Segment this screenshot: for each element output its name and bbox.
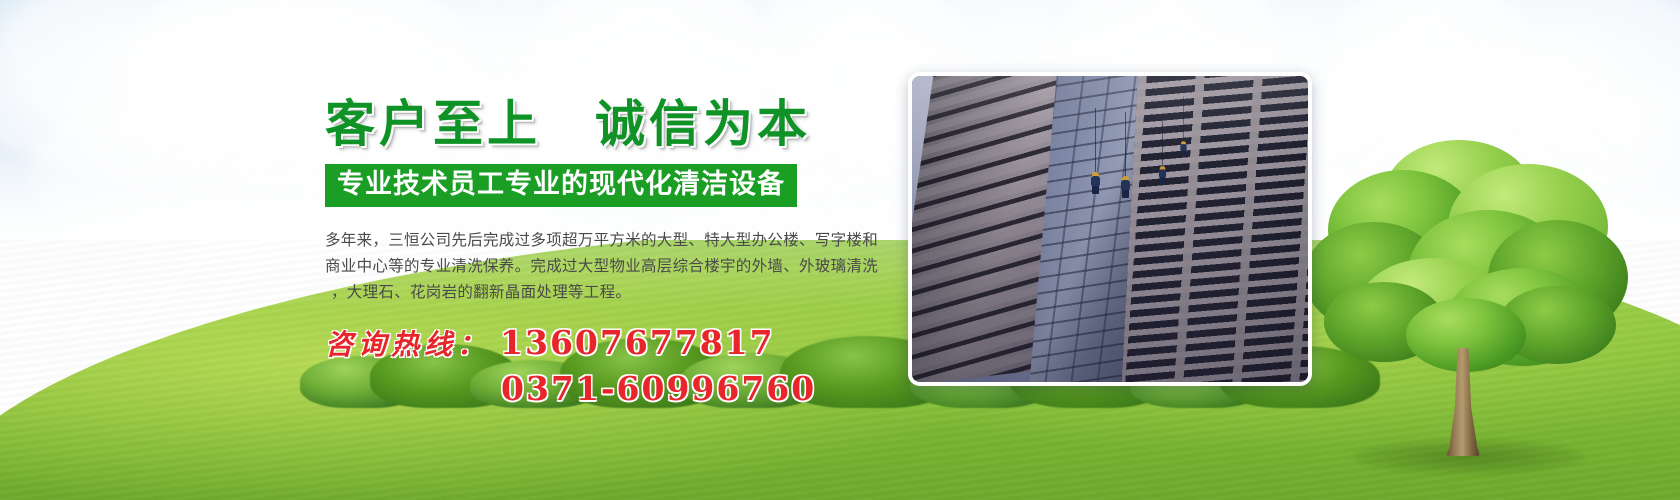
building-photo: [912, 76, 1308, 382]
banner-copy: 客户至上 诚信为本 专业技术员工专业的现代化清洁设备 多年来，三恒公司先后完成过…: [325, 96, 905, 408]
tree-canopy: [1298, 140, 1628, 380]
description-line-2: 商业中心等的专业清洗保养。完成过大型物业高层综合楼宇的外墙、外玻璃清洗: [325, 253, 885, 279]
hotline-phone-primary[interactable]: 13607677817: [500, 323, 775, 362]
description-line-3: ，大理石、花岗岩的翻新晶面处理等工程。: [325, 279, 885, 305]
tree-illustration: [1298, 140, 1628, 470]
hotline-label: 咨询热线：: [325, 323, 490, 363]
description-line-1: 多年来，三恒公司先后完成过多项超万平方米的大型、特大型办公楼、写字楼和: [325, 227, 885, 253]
hotline-primary-row: 咨询热线： 13607677817: [325, 323, 905, 363]
description-paragraph: 多年来，三恒公司先后完成过多项超万平方米的大型、特大型办公楼、写字楼和 商业中心…: [325, 227, 885, 305]
promo-banner: 客户至上 诚信为本 专业技术员工专业的现代化清洁设备 多年来，三恒公司先后完成过…: [0, 0, 1680, 500]
hotline-phone-secondary[interactable]: 0371-60996760: [501, 369, 816, 408]
hotline-secondary-row: 0371-60996760: [325, 369, 905, 408]
building-photo-card: [908, 72, 1312, 386]
tagline-badge: 专业技术员工专业的现代化清洁设备: [325, 164, 797, 207]
headline-slogan: 客户至上 诚信为本: [325, 96, 905, 152]
